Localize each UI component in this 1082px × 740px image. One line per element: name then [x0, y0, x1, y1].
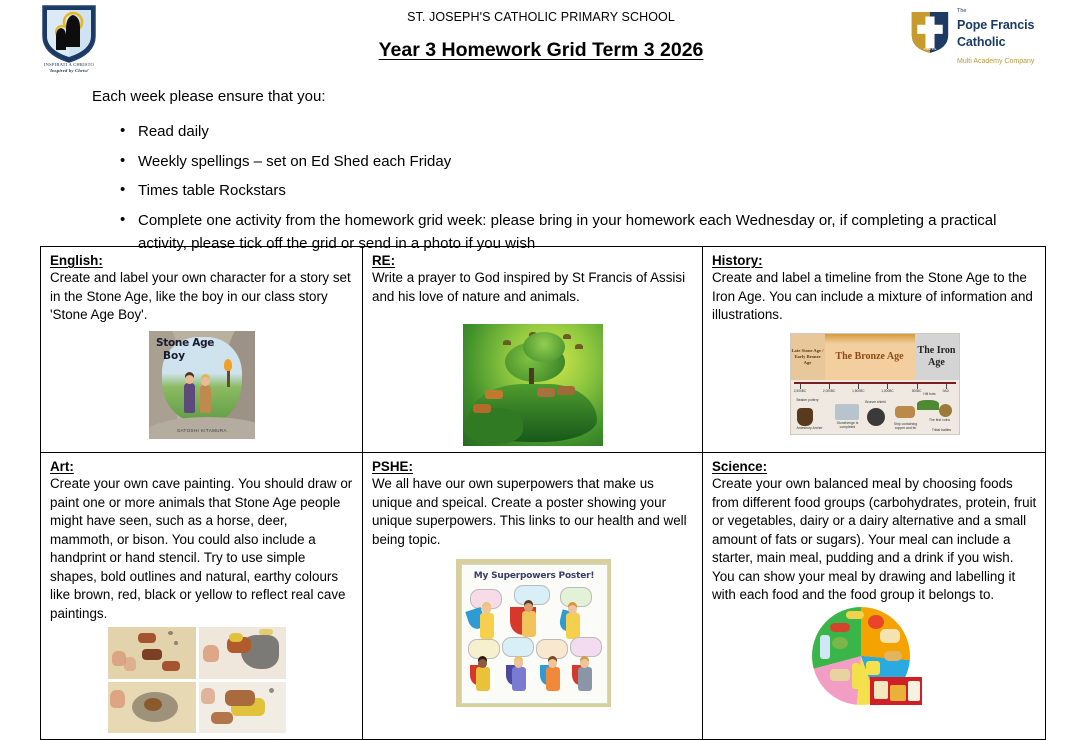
cell-title: PSHE: — [372, 459, 694, 474]
grid-cell-pshe[interactable]: PSHE: We all have our own superpowers th… — [363, 453, 703, 740]
grid-cell-art[interactable]: Art: Create your own cave painting. You … — [41, 453, 363, 740]
cell-image-wrap — [372, 324, 694, 446]
eatwell-guide-plate — [812, 607, 922, 707]
crest-caption: INSPIRATI A CHRISTO 'Inspired by Christ' — [40, 62, 98, 74]
book-title-line1: Stone Age — [156, 337, 214, 349]
timeline-caption: Hill forts — [913, 392, 947, 396]
cell-image-wrap: Stone Age Boy SATOSHI KITAMURA — [50, 331, 354, 439]
timeline-caption: Stonehenge is completed — [831, 421, 865, 429]
list-item: Read daily — [98, 120, 1028, 144]
cell-title: Art: — [50, 459, 354, 474]
cell-image-wrap: Late Stone Age / Early Bronze Age The Br… — [712, 333, 1037, 435]
timeline-tick: 2,500BC — [794, 389, 806, 393]
timeline-caption: Ship containing copper and tin — [889, 422, 923, 430]
table-row: English: Create and label your own chara… — [41, 247, 1046, 453]
trust-logo-sub: Multi Academy Company — [957, 58, 1034, 65]
cell-image-wrap: My Superpowers Poster! — [372, 559, 694, 707]
list-item: Times table Rockstars — [98, 179, 1028, 203]
trust-logo-text: The Pope Francis Catholic Multi Academy … — [957, 0, 1070, 67]
cell-title: History: — [712, 253, 1037, 268]
page-header: INSPIRATI A CHRISTO 'Inspired by Christ'… — [0, 0, 1082, 84]
instructions-list: Read daily Weekly spellings – set on Ed … — [98, 120, 1028, 262]
poster-title: My Superpowers Poster! — [462, 571, 607, 581]
grid-cell-english[interactable]: English: Create and label your own chara… — [41, 247, 363, 453]
cell-image-wrap — [712, 607, 1037, 707]
cell-title: English: — [50, 253, 354, 268]
cell-title: RE: — [372, 253, 694, 268]
timeline-band-3: The Iron Age — [915, 334, 959, 380]
table-row: Art: Create your own cave painting. You … — [41, 453, 1046, 740]
grid-cell-science[interactable]: Science: Create your own balanced meal b… — [703, 453, 1046, 740]
cell-body: Create and label a timeline from the Sto… — [712, 269, 1037, 325]
timeline-caption: Amesbury Archer — [793, 426, 827, 430]
book-author: SATOSHI KITAMURA — [149, 428, 255, 433]
timeline-tick: 1,000BC — [881, 389, 893, 393]
timeline-band-1: Late Stone Age / Early Bronze Age — [791, 334, 825, 380]
trust-logo-the: The — [957, 8, 966, 14]
my-superpowers-poster: My Superpowers Poster! — [456, 559, 611, 707]
cell-image-wrap — [50, 627, 354, 733]
cell-title: Science: — [712, 459, 1037, 474]
timeline-illustrations: Beaker pottery Amesbury Archer Stoneheng… — [791, 396, 959, 434]
intro-lead: Each week please ensure that you: — [92, 88, 325, 105]
svg-text:Pope Fra: Pope Fra — [924, 47, 937, 51]
homework-grid-table: English: Create and label your own chara… — [40, 246, 1046, 740]
cell-body: Create your own balanced meal by choosin… — [712, 475, 1037, 605]
cell-body: We all have our own superpowers that mak… — [372, 475, 694, 549]
list-item: Weekly spellings – set on Ed Shed each F… — [98, 150, 1028, 174]
cell-body: Create your own cave painting. You shoul… — [50, 475, 354, 623]
timeline-tick: 2,000BC — [823, 389, 835, 393]
cell-body: Create and label your own character for … — [50, 269, 354, 325]
timeline-caption: Bronze shield — [859, 400, 893, 404]
cross-shield-icon: Pope Fra — [910, 10, 950, 59]
timeline-caption: The first coins — [923, 418, 957, 422]
stone-age-boy-book-cover: Stone Age Boy SATOSHI KITAMURA — [149, 331, 255, 439]
grid-cell-re[interactable]: RE: Write a prayer to God inspired by St… — [363, 247, 703, 453]
stone-to-iron-age-timeline: Late Stone Age / Early Bronze Age The Br… — [790, 333, 960, 435]
trust-logo-main: Pope Francis Catholic — [957, 18, 1034, 49]
nature-animals-photo — [463, 324, 603, 446]
book-title-line2: Boy — [163, 350, 185, 362]
trust-logo: Pope Fra The Pope Francis Catholic Multi… — [910, 10, 1070, 58]
timeline-caption: Beaker pottery — [791, 398, 825, 402]
grid-cell-history[interactable]: History: Create and label a timeline fro… — [703, 247, 1046, 453]
timeline-tick: 1,500BC — [852, 389, 864, 393]
timeline-caption: Tribal battles — [925, 428, 959, 432]
cell-body: Write a prayer to God inspired by St Fra… — [372, 269, 694, 306]
childrens-cave-painting-artworks — [108, 627, 286, 733]
